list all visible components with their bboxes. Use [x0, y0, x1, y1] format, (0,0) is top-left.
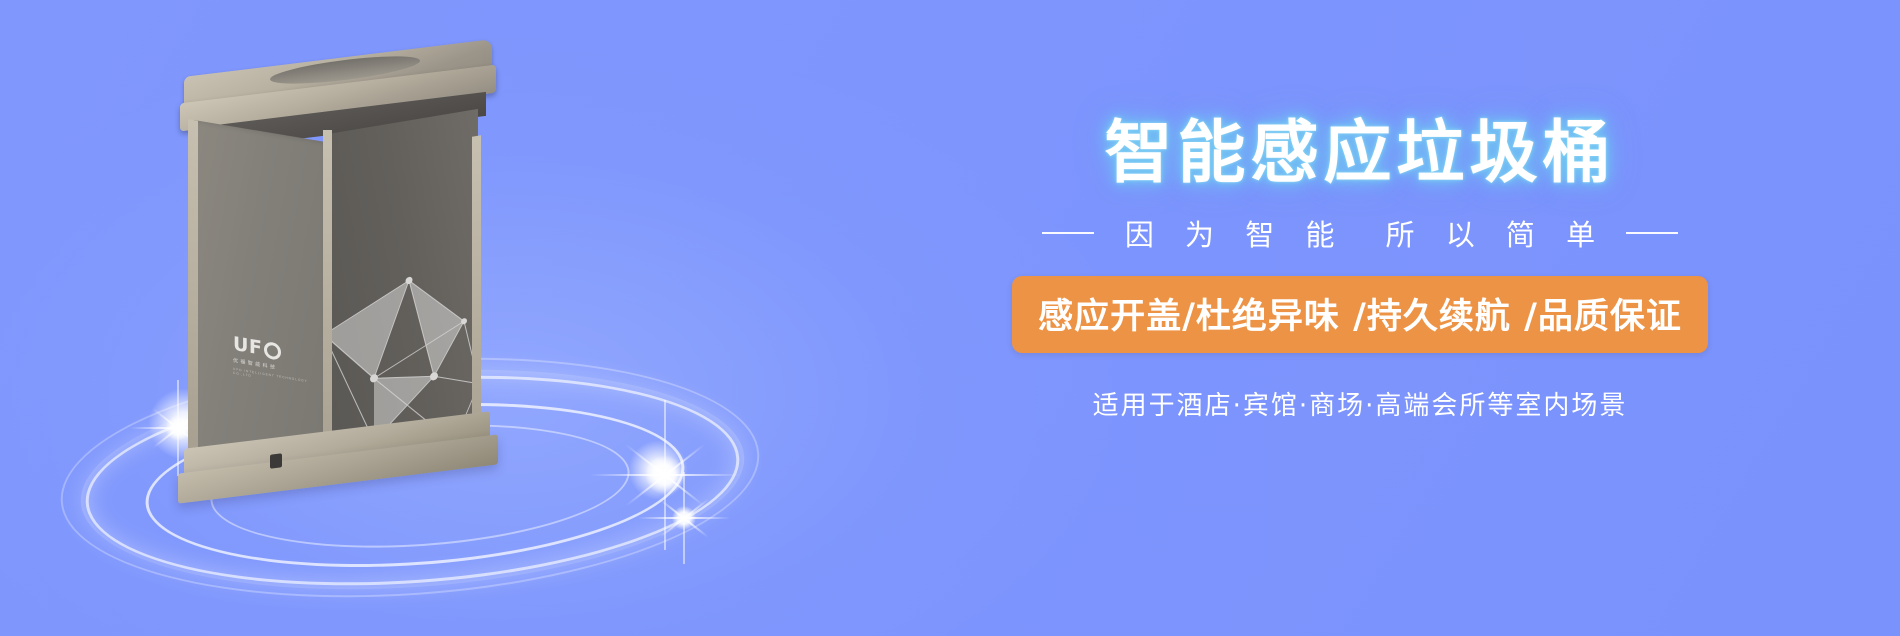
feature-highlight-bar: 感应开盖/杜绝异味 /持久续航 /品质保证 [1012, 276, 1708, 353]
promo-banner: UF 优福智能科技 UFO INTELLIGENT TECHNOLOGY CO.… [0, 0, 1900, 636]
product-image: UF 优福智能科技 UFO INTELLIGENT TECHNOLOGY CO.… [60, 20, 760, 616]
brand-mark-text: UF [233, 335, 262, 359]
bin-sensor-icon [270, 453, 282, 468]
bin-trim-center [323, 130, 332, 474]
smart-trash-bin: UF 优福智能科技 UFO INTELLIGENT TECHNOLOGY CO.… [178, 58, 508, 458]
rule-right-icon [1626, 232, 1678, 234]
headline: 智能感应垃圾桶 [880, 118, 1840, 190]
subline-text: 因 为 智 能 所 以 简 单 [1114, 212, 1606, 254]
bin-face-left [194, 120, 328, 472]
bin-face-right [328, 109, 478, 464]
subline: 因 为 智 能 所 以 简 单 [880, 212, 1840, 254]
brand-mark-o-icon [264, 341, 281, 361]
marketing-copy: 智能感应垃圾桶 因 为 智 能 所 以 简 单 感应开盖/杜绝异味 /持久续航 … [880, 118, 1840, 538]
sparkle-star-icon-2 [638, 472, 730, 564]
bin-trim-left [188, 119, 198, 455]
rule-left-icon [1042, 232, 1094, 234]
usage-scenarios-text: 适用于酒店·宾馆·商场·高端会所等室内场景 [880, 385, 1840, 422]
